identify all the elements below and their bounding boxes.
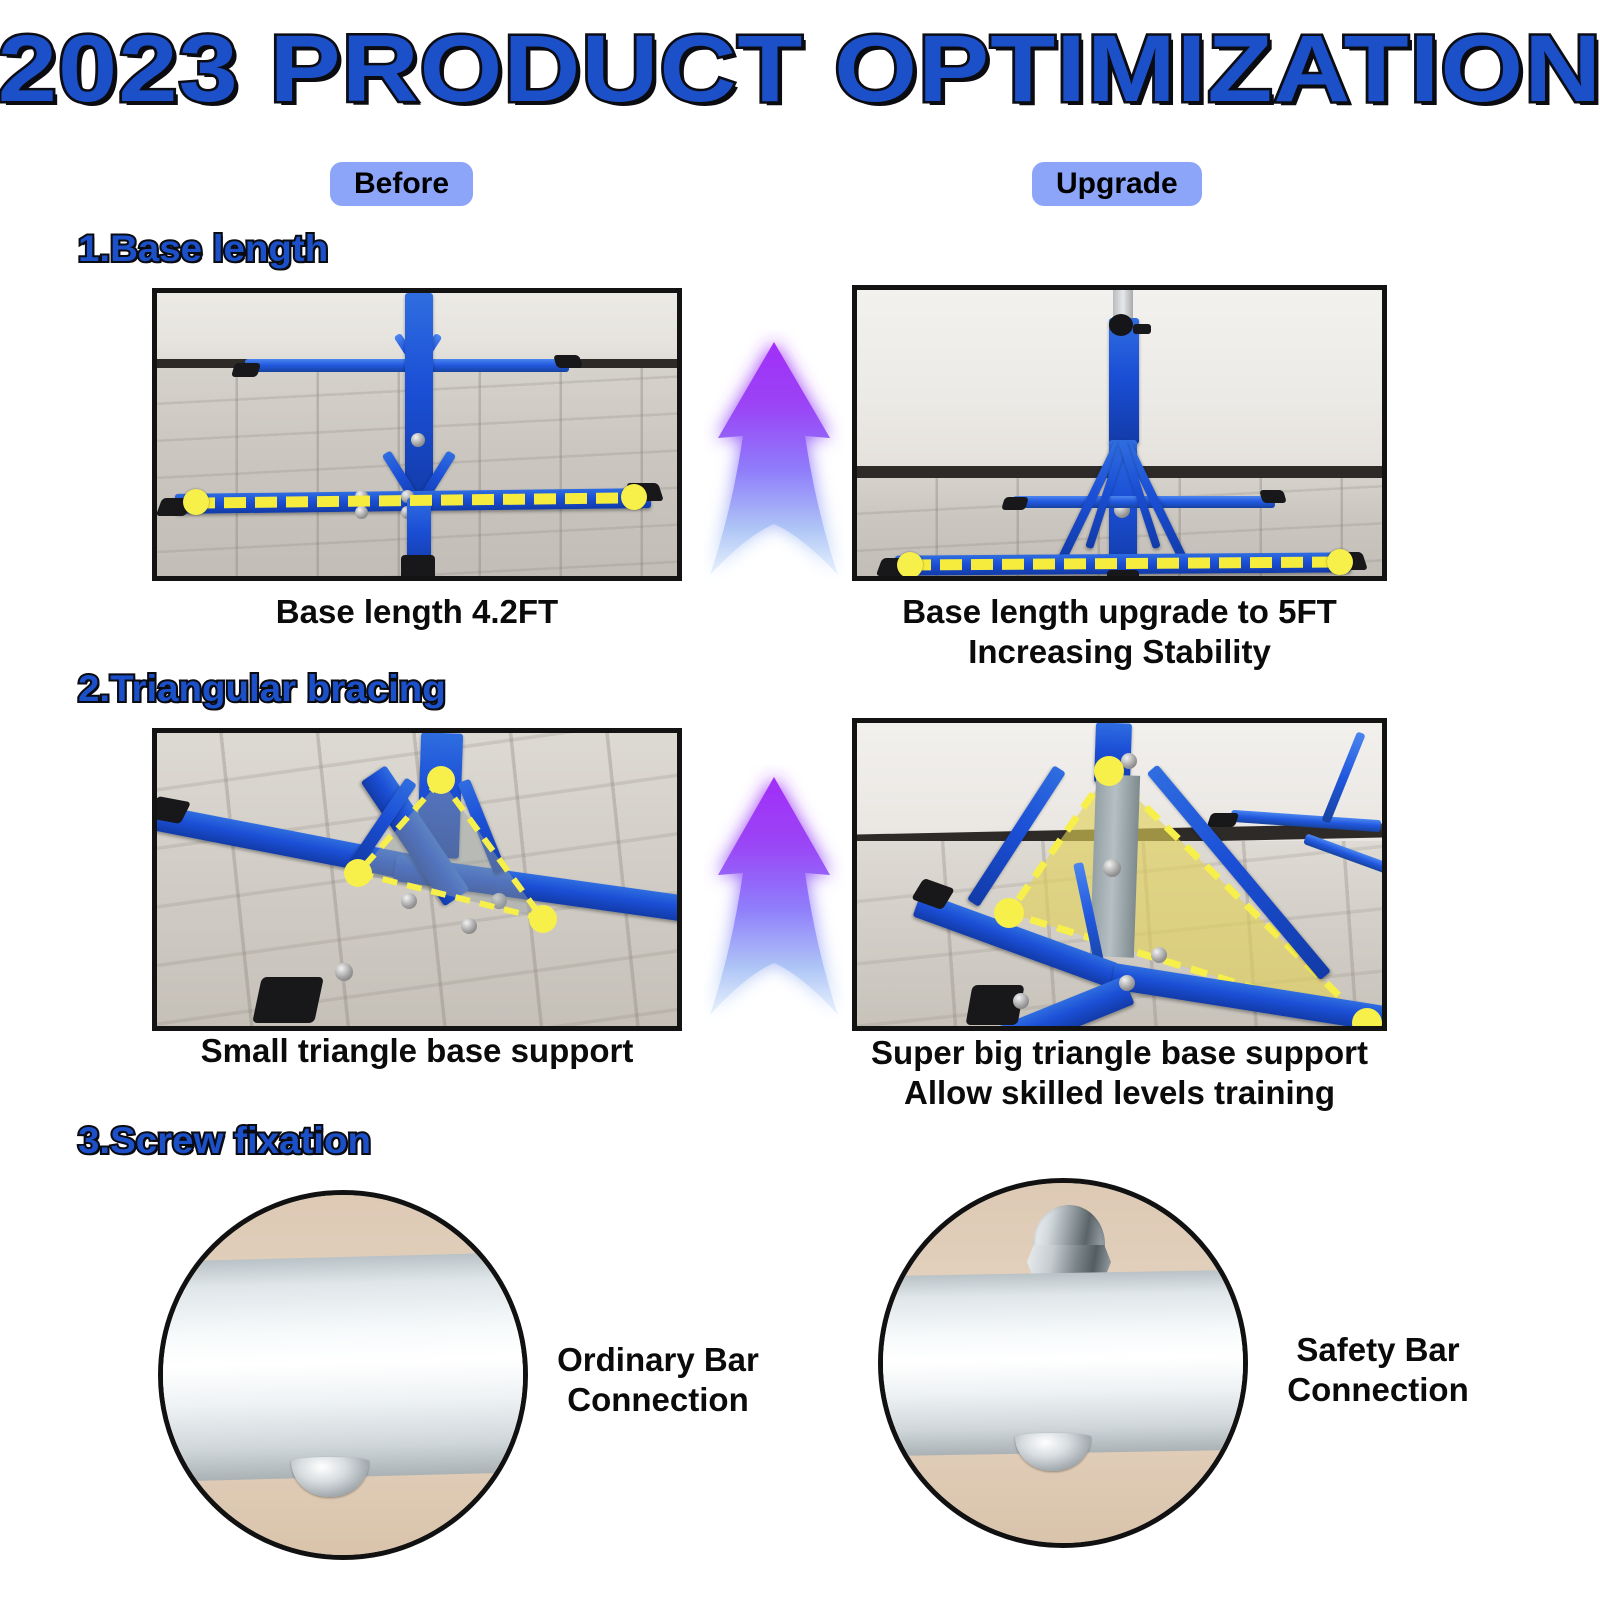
stand-foot-center [401,555,435,581]
section-heading-base-length: 1.Base length [78,230,328,267]
measure-endpoint-right [1327,549,1353,575]
measure-endpoint-left [897,552,923,578]
caption-base-length-before: Base length 4.2FT [152,592,682,632]
stand-foot-rear-left [1001,497,1029,510]
photo-triangular-bracing-upgrade [852,718,1387,1031]
photo-base-length-upgrade [852,285,1387,581]
photo-base-length-before [152,288,682,581]
up-arrow-icon [704,765,844,1025]
column-badge-upgrade: Upgrade [1032,162,1202,206]
caption-triangular-bracing-upgrade: Super big triangle base support Allow sk… [852,1033,1387,1113]
photo-screw-fixation-before [158,1190,528,1560]
white-bar [878,1270,1248,1457]
label-safety-bar-connection: Safety Bar Connection [1258,1330,1498,1410]
photo-triangular-bracing-before [152,728,682,1031]
mast-knob [1109,314,1133,336]
triangle-vertex-dots [857,723,1387,1031]
column-badge-before: Before [330,162,473,206]
mast-bolt [411,433,425,447]
measure-endpoint-right [621,484,647,510]
triangle-overlay-small [157,733,682,1031]
white-bar [158,1252,528,1482]
photo-screw-fixation-upgrade [878,1178,1248,1548]
base-bolt-left-lower [355,506,368,519]
stand-foot-rear-right [1259,490,1287,503]
up-arrow-icon [704,330,844,585]
stand-foot-rear-right [553,355,583,368]
stand-foot-rear-left [231,363,261,377]
mast-lever [1133,324,1151,334]
stand-foot-center [1107,570,1139,581]
section-heading-triangular-bracing: 2.Triangular bracing [78,670,446,707]
label-ordinary-bar-connection: Ordinary Bar Connection [528,1340,788,1420]
caption-triangular-bracing-before: Small triangle base support [142,1031,692,1071]
stand-mast [1109,318,1139,444]
page-title: 2023 PRODUCT OPTIMIZATION [0,22,1600,117]
measure-endpoint-left [183,489,209,515]
stand-mast [405,293,433,505]
caption-base-length-upgrade: Base length upgrade to 5FT Increasing St… [852,592,1387,672]
section-heading-screw-fixation: 3.Screw fixation [78,1122,371,1159]
